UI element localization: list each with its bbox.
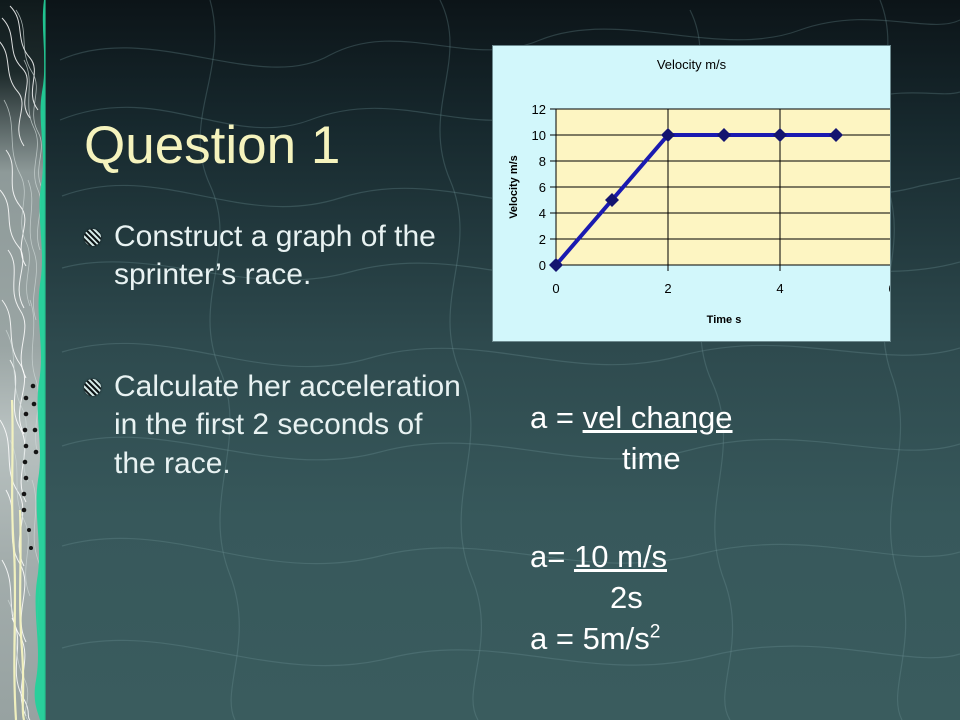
topographic-map-graphic [0, 0, 62, 720]
svg-text:2: 2 [539, 232, 546, 247]
bullet-item-2: Calculate her acceleration in the first … [84, 368, 464, 483]
bullet-item-1-text: Construct a graph of the sprinter’s race… [114, 218, 464, 295]
x-axis-tick-labels: 0 2 4 6 [552, 281, 890, 296]
svg-text:0: 0 [539, 258, 546, 273]
y-axis-title: Velocity m/s [508, 155, 520, 219]
svg-text:6: 6 [539, 180, 546, 195]
svg-text:4: 4 [776, 281, 783, 296]
chart-plot-svg: 12 10 8 6 4 2 0 0 2 4 6 Time s Velocity … [493, 46, 890, 341]
svg-text:10: 10 [532, 128, 546, 143]
formula-2-numerator: 10 m/s [574, 539, 667, 574]
hatched-circle-bullet-icon [84, 379, 101, 396]
left-decorative-strip [0, 0, 62, 720]
formula-2-result-exponent: 2 [650, 621, 661, 642]
svg-text:6: 6 [888, 281, 890, 296]
formula-2-result: a = 5m/s2 [530, 619, 667, 660]
bullet-item-2-text: Calculate her acceleration in the first … [114, 368, 464, 483]
formula-acceleration-calculation: a= 10 m/s 2s a = 5m/s2 [530, 537, 667, 660]
x-axis-ticks [556, 265, 890, 271]
x-axis-title: Time s [707, 314, 742, 326]
velocity-time-chart: Velocity m/s [492, 45, 891, 342]
formula-2-lhs: a= [530, 539, 574, 574]
svg-text:0: 0 [552, 281, 559, 296]
formula-1-denominator: time [530, 439, 733, 480]
svg-text:2: 2 [664, 281, 671, 296]
svg-text:8: 8 [539, 154, 546, 169]
page-title: Question 1 [84, 118, 340, 174]
bullet-item-1: Construct a graph of the sprinter’s race… [84, 218, 464, 295]
formula-2-result-text: a = 5m/s [530, 621, 650, 656]
svg-text:4: 4 [539, 206, 546, 221]
slide-canvas: Question 1 Construct a graph of the spri… [0, 0, 960, 720]
y-axis-tick-labels: 12 10 8 6 4 2 0 [532, 102, 546, 273]
formula-2-denominator: 2s [530, 578, 667, 619]
hatched-circle-bullet-icon [84, 229, 101, 246]
formula-1-numerator: vel change [583, 400, 733, 435]
svg-text:12: 12 [532, 102, 546, 117]
formula-1-lhs: a = [530, 400, 583, 435]
formula-acceleration-definition: a = vel change time [530, 398, 733, 480]
y-axis-ticks [550, 109, 556, 265]
